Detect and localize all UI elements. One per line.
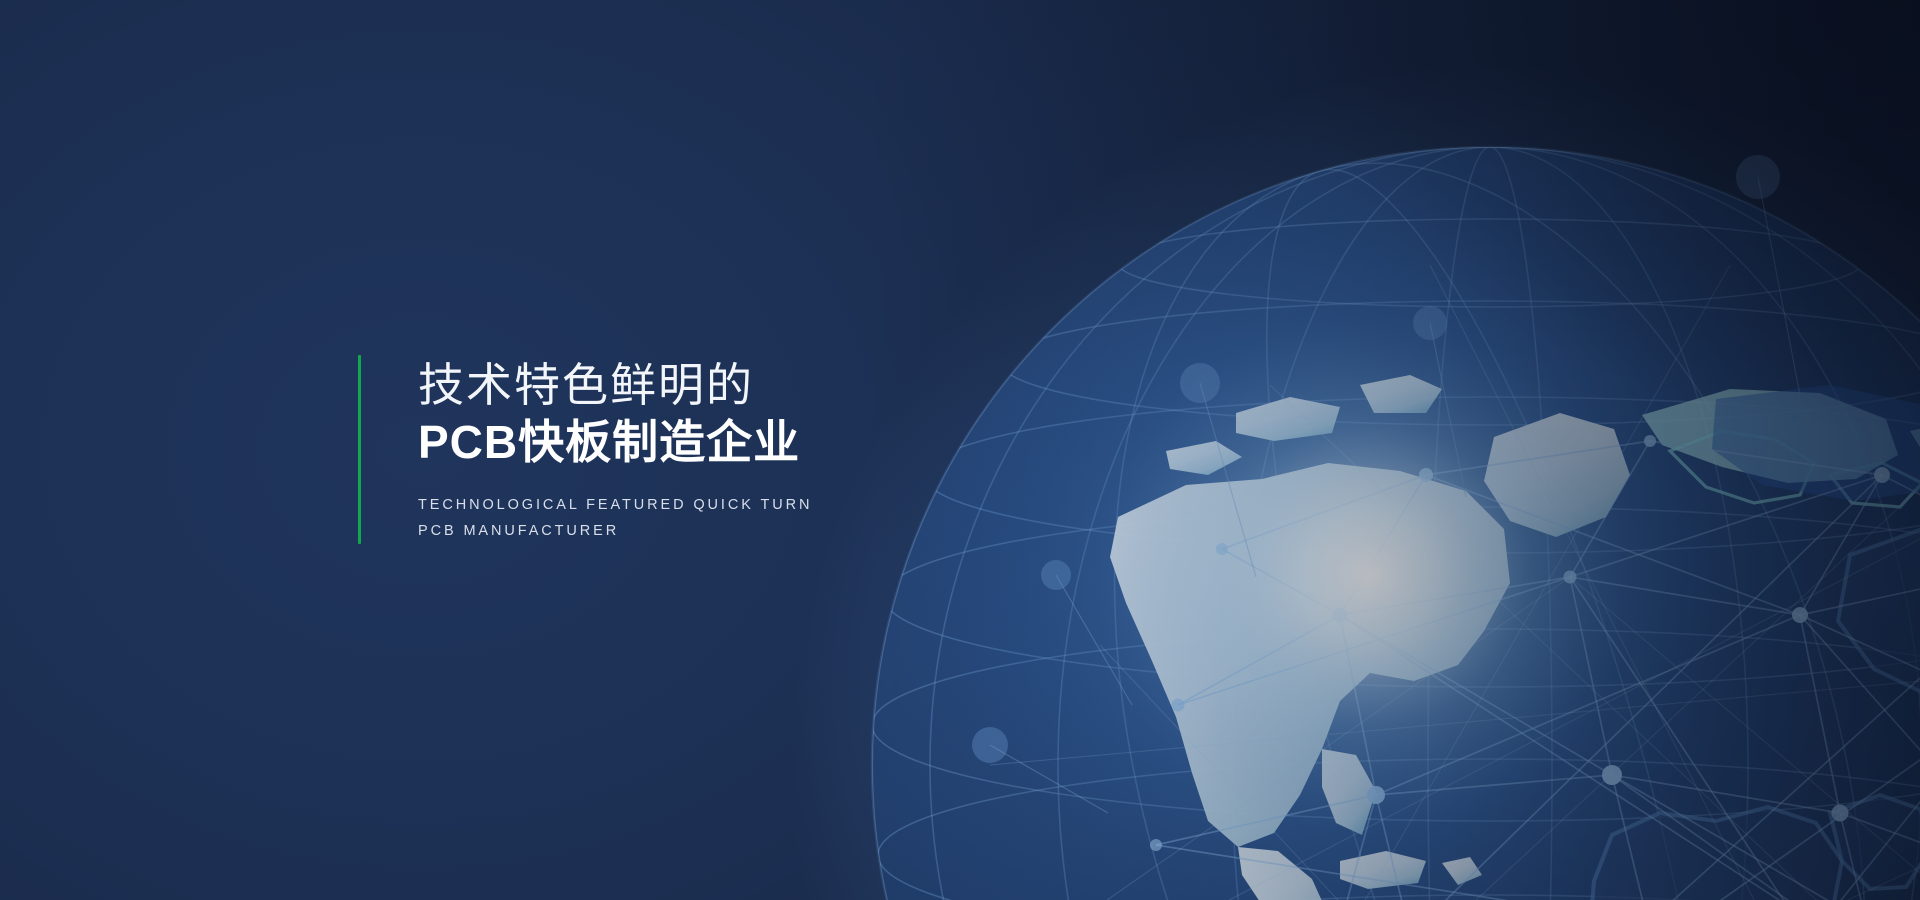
subtitle-line-1: TECHNOLOGICAL FEATURED QUICK TURN	[418, 493, 812, 518]
globe-network-illustration	[870, 145, 1920, 900]
hero-text-group: 技术特色鲜明的 PCB快板制造企业 TECHNOLOGICAL FEATURED…	[361, 355, 812, 544]
headline-line-1: 技术特色鲜明的	[418, 357, 812, 413]
headline-line-2: PCB快板制造企业	[418, 414, 812, 470]
edge-vignette	[0, 0, 1920, 900]
hero-copy-block: 技术特色鲜明的 PCB快板制造企业 TECHNOLOGICAL FEATURED…	[358, 355, 812, 544]
hero-banner: 技术特色鲜明的 PCB快板制造企业 TECHNOLOGICAL FEATURED…	[0, 0, 1920, 900]
subtitle-line-2: PCB MANUFACTURER	[418, 519, 812, 544]
